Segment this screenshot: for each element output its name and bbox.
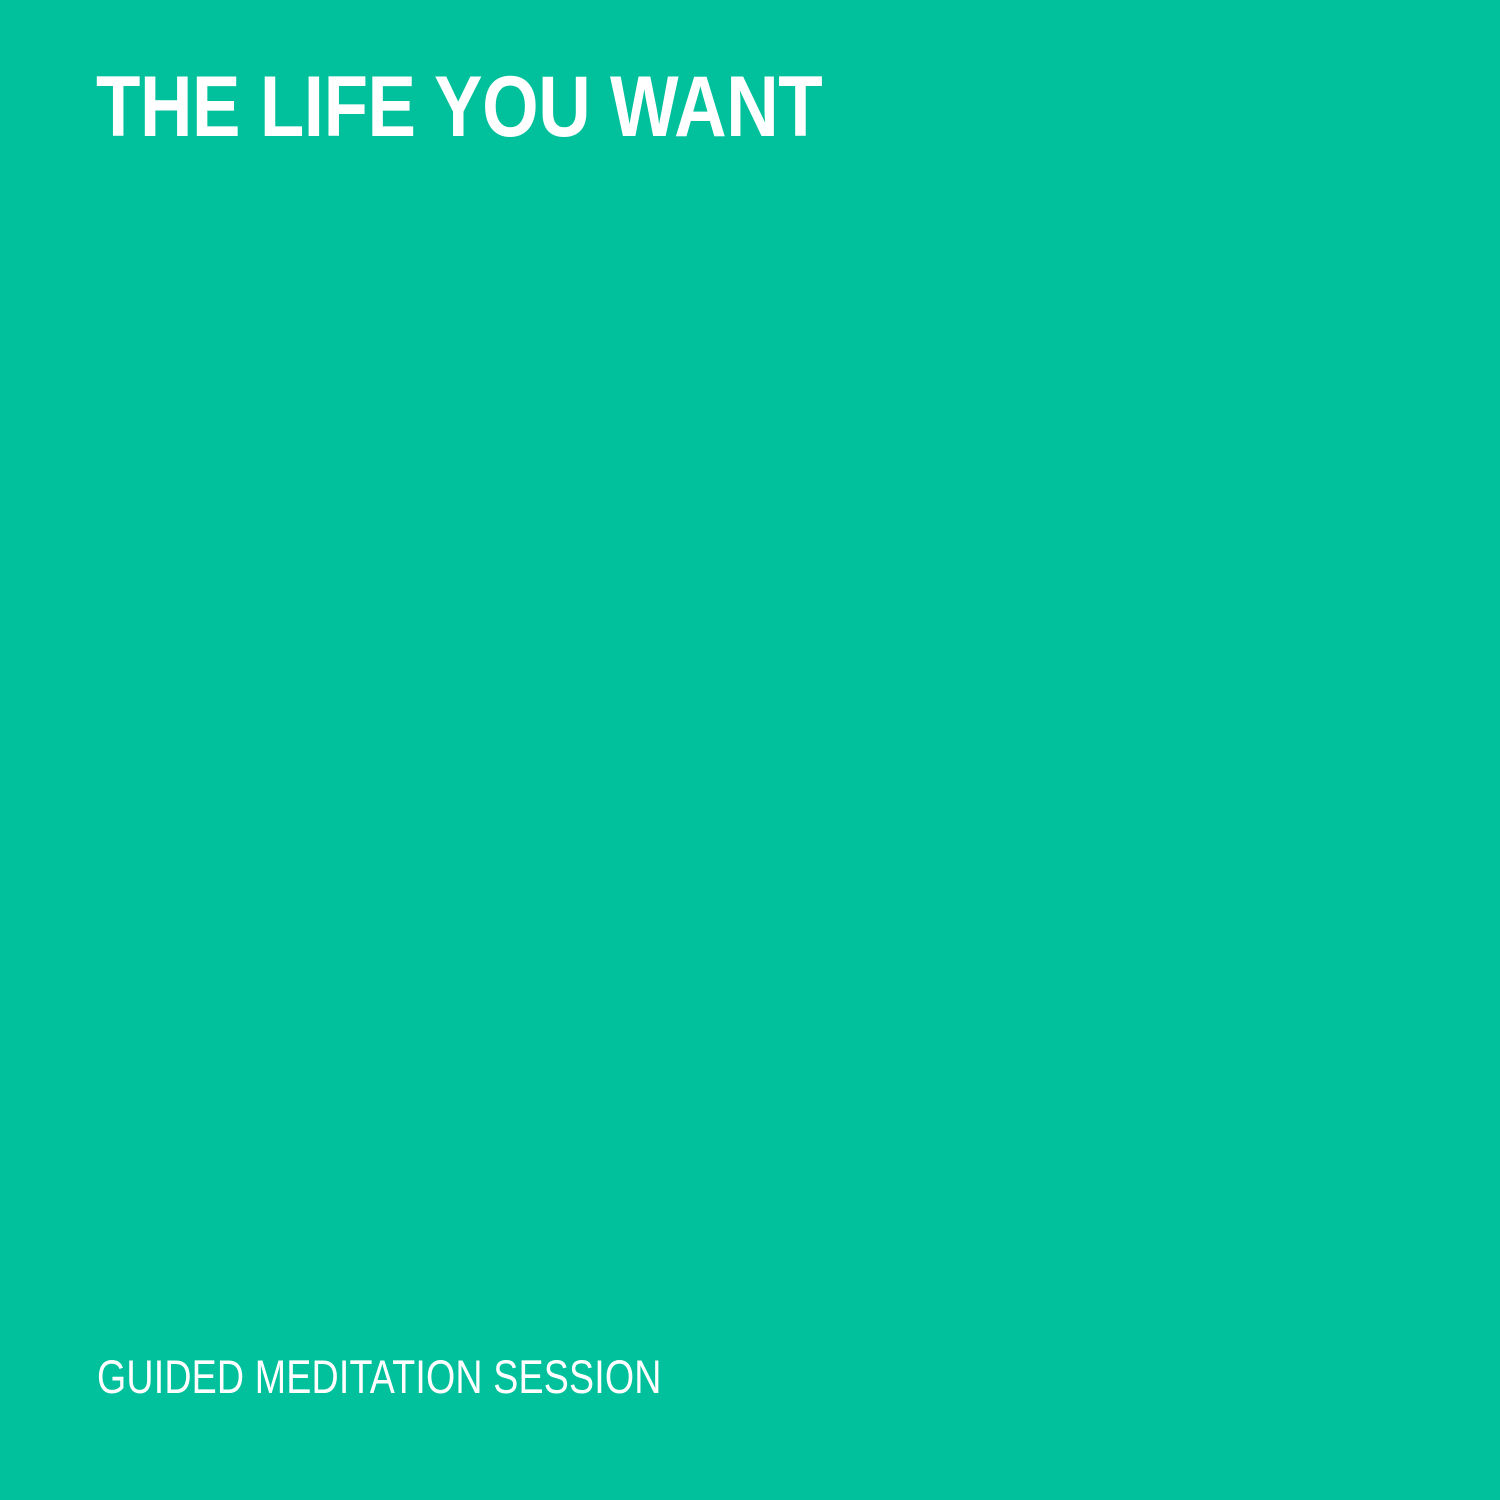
title-block: THE LIFE YOU WANT — [96, 64, 1416, 174]
subtitle-block: GUIDED MEDITATION SESSION — [97, 1352, 1417, 1412]
poster-empty-area — [0, 190, 1500, 1340]
poster-canvas: THE LIFE YOU WANT GUIDED MEDITATION SESS… — [0, 0, 1500, 1500]
page-title: THE LIFE YOU WANT — [96, 64, 1211, 150]
page-subtitle: GUIDED MEDITATION SESSION — [97, 1352, 1153, 1402]
